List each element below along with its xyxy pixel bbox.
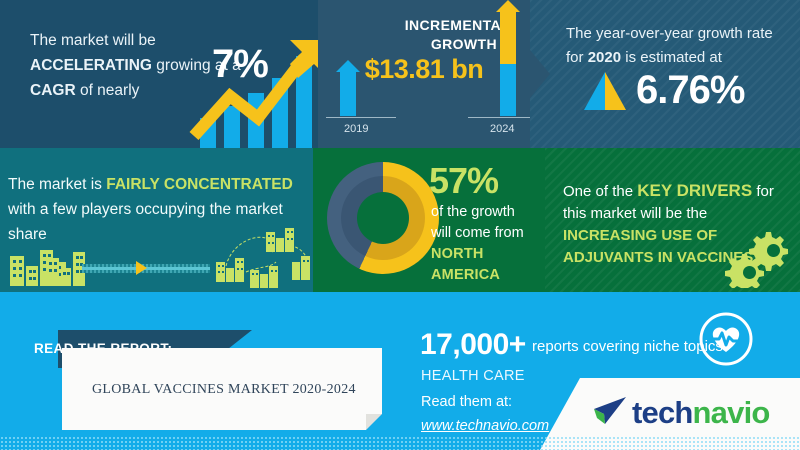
bar-2024-top-yellow [500, 12, 516, 64]
bar-2024-head [496, 0, 520, 12]
chevron-notch [530, 50, 550, 98]
growth-arrow-icon [186, 18, 318, 148]
cagr-text-post: of nearly [76, 82, 140, 99]
panel-regional-share: 57% of the growth will come from NORTH A… [313, 148, 545, 292]
triangle-split-icon [582, 72, 628, 112]
concentration-text-bold: FAIRLY CONCENTRATED [106, 176, 293, 193]
donut-caption-line2: will come from [431, 225, 524, 241]
bar-2019-body [340, 72, 356, 116]
donut-hole [357, 192, 409, 244]
city-cluster-right-icon [212, 226, 312, 288]
bar-2019-head [336, 60, 360, 72]
incremental-year-2019: 2019 [344, 123, 368, 135]
reports-count-caption: reports covering niche topics [532, 338, 723, 355]
panel-incremental-growth: INCREMENTAL GROWTH $13.81 bn 2019 2024 [318, 0, 530, 148]
city-cluster-left2-icon [44, 244, 86, 286]
halftone-strip [0, 436, 800, 450]
panel-footer: READ THE REPORT: GLOBAL VACCINES MARKET … [0, 292, 800, 450]
concentration-text-pre: The market is [8, 176, 106, 193]
incremental-axis-2019 [326, 117, 396, 118]
incremental-axis-2024 [468, 117, 530, 118]
yoy-text-bold-year: 2020 [588, 49, 621, 66]
donut-percent-value: 57% [429, 160, 498, 202]
incremental-growth-value: $13.81 bn [334, 54, 514, 85]
yoy-statement: The year-over-year growth rate for 2020 … [566, 22, 786, 70]
sector-label: HEALTH CARE [421, 368, 525, 384]
gears-icon [720, 226, 790, 288]
panel-yoy-growth: The year-over-year growth rate for 2020 … [530, 0, 800, 148]
incremental-title-line2: GROWTH [431, 36, 497, 52]
bar-2024-bottom-blue [500, 64, 516, 116]
incremental-year-2024: 2024 [490, 123, 514, 135]
donut-caption-line1: of the growth [431, 204, 515, 220]
drivers-text-bold-key: KEY DRIVERS [637, 181, 752, 200]
heart-pulse-icon [697, 310, 755, 368]
cagr-text-pre: The market will be [30, 32, 156, 49]
panel-market-concentration: The market is FAIRLY CONCENTRATED with a… [0, 148, 313, 292]
report-title[interactable]: GLOBAL VACCINES MARKET 2020-2024 [92, 382, 382, 398]
drivers-text-pre: One of the [563, 183, 637, 200]
technavio-paper-plane-icon [592, 396, 628, 426]
yoy-text-post: is estimated at [621, 49, 722, 66]
incremental-bar-2024 [496, 0, 520, 116]
panel-key-drivers: One of the KEY DRIVERS for this market w… [545, 148, 800, 292]
track-arrow-icon [136, 261, 147, 275]
yoy-value: 6.76% [636, 68, 744, 113]
logo-text-navio: navio [693, 395, 770, 430]
infographic-canvas: The market will be ACCELERATING growing … [0, 0, 800, 450]
donut-chart [327, 162, 439, 274]
panel-cagr: The market will be ACCELERATING growing … [0, 0, 318, 148]
incremental-title-line1: INCREMENTAL [405, 17, 510, 33]
incremental-bar-2019 [336, 60, 360, 116]
cagr-text-bold-accelerating: ACCELERATING [30, 57, 152, 74]
website-url-link[interactable]: www.technavio.com [421, 418, 549, 434]
reports-count: 17,000+ [420, 328, 526, 362]
donut-region-label: NORTH AMERICA [431, 246, 500, 283]
donut-caption: of the growth will come from NORTH AMERI… [431, 202, 545, 286]
logo-text-tech: tech [632, 395, 693, 430]
incremental-growth-title: INCREMENTAL GROWTH [340, 16, 510, 54]
technavio-wordmark: technavio [632, 395, 770, 431]
cagr-text-bold-cagr: CAGR [30, 82, 76, 99]
read-them-at-label: Read them at: [421, 394, 512, 410]
